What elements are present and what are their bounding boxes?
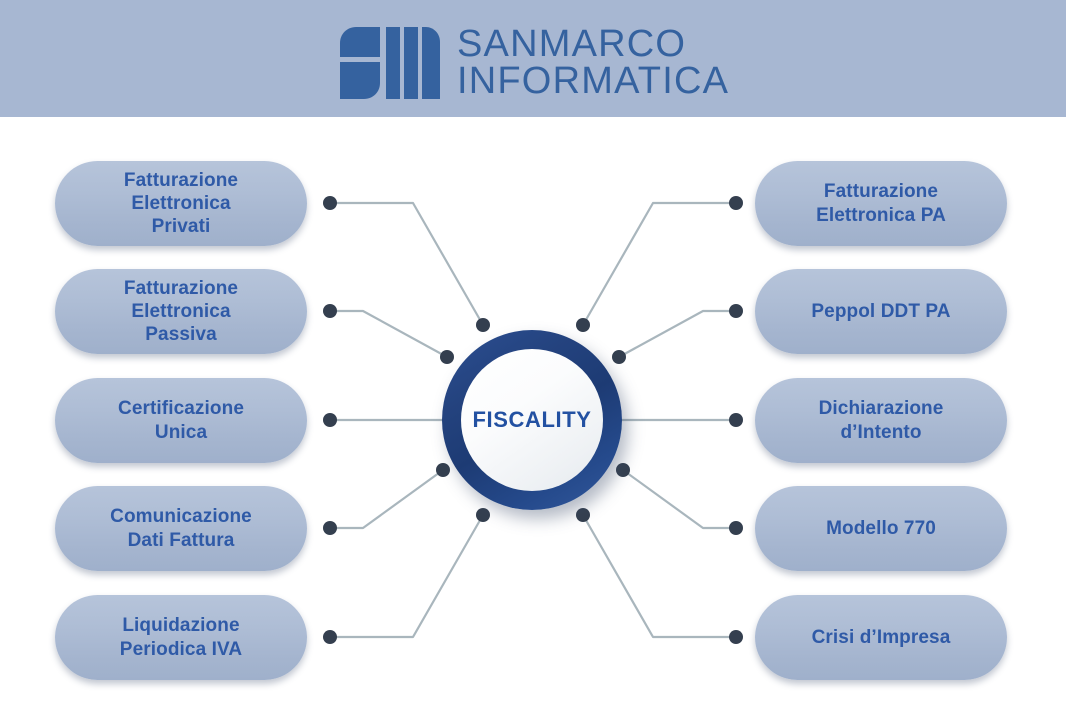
connector-dot-left-4 (323, 630, 337, 644)
node-label: Dichiarazione d’Intento (819, 397, 944, 443)
node-label: Peppol DDT PA (811, 300, 950, 323)
connector-dot-right-4 (729, 630, 743, 644)
node-label: Modello 770 (826, 517, 936, 540)
logo-wordmark: SANMARCO INFORMATICA (457, 26, 729, 100)
diagram-canvas: SANMARCO INFORMATICA (0, 0, 1066, 723)
node-comunicazione-dati-fattura[interactable]: Comunicazione Dati Fattura (55, 486, 307, 571)
connector-right-0 (583, 203, 736, 325)
connector-left-4 (330, 515, 483, 637)
connector-left-3 (330, 470, 443, 528)
connector-dot-left-2 (323, 413, 337, 427)
node-fatturazione-elettronica-pa[interactable]: Fatturazione Elettronica PA (755, 161, 1007, 246)
connector-dot-left-3 (323, 521, 337, 535)
connector-dot-right-2 (729, 413, 743, 427)
node-peppol-ddt-pa[interactable]: Peppol DDT PA (755, 269, 1007, 354)
node-label: Fatturazione Elettronica PA (816, 180, 946, 226)
connector-left-0 (330, 203, 483, 325)
node-label: Fatturazione Elettronica Privati (124, 169, 238, 239)
connector-dot-right-1 (729, 304, 743, 318)
header-band: SANMARCO INFORMATICA (0, 0, 1066, 117)
node-dichiarazione-dintento[interactable]: Dichiarazione d’Intento (755, 378, 1007, 463)
connector-left-1 (330, 311, 447, 357)
connector-dot-right-3 (729, 521, 743, 535)
node-label: Fatturazione Elettronica Passiva (124, 277, 238, 347)
node-crisi-dimpresa[interactable]: Crisi d’Impresa (755, 595, 1007, 680)
hub-inner-circle: FISCALITY (461, 349, 603, 491)
node-label: Liquidazione Periodica IVA (120, 614, 242, 660)
node-certificazione-unica[interactable]: Certificazione Unica (55, 378, 307, 463)
connector-dot-right-0 (729, 196, 743, 210)
hub-dot-left-4 (476, 508, 490, 522)
node-fatturazione-elettronica-passiva[interactable]: Fatturazione Elettronica Passiva (55, 269, 307, 354)
node-fatturazione-elettronica-privati[interactable]: Fatturazione Elettronica Privati (55, 161, 307, 246)
node-label: Crisi d’Impresa (812, 626, 951, 649)
connector-dot-left-1 (323, 304, 337, 318)
company-logo: SANMARCO INFORMATICA (340, 26, 729, 100)
hub-label: FISCALITY (472, 407, 591, 433)
hub-dot-right-4 (576, 508, 590, 522)
node-liquidazione-periodica-iva[interactable]: Liquidazione Periodica IVA (55, 595, 307, 680)
node-modello-770[interactable]: Modello 770 (755, 486, 1007, 571)
logo-line-2: INFORMATICA (457, 63, 729, 100)
connector-right-3 (623, 470, 736, 528)
sanmarco-sm-logo-mark-icon (340, 27, 440, 99)
connector-right-1 (619, 311, 736, 357)
connector-right-4 (583, 515, 736, 637)
node-label: Comunicazione Dati Fattura (110, 505, 252, 551)
node-label: Certificazione Unica (118, 397, 244, 443)
connector-dot-left-0 (323, 196, 337, 210)
center-hub[interactable]: FISCALITY (442, 330, 622, 510)
logo-line-1: SANMARCO (457, 26, 729, 63)
